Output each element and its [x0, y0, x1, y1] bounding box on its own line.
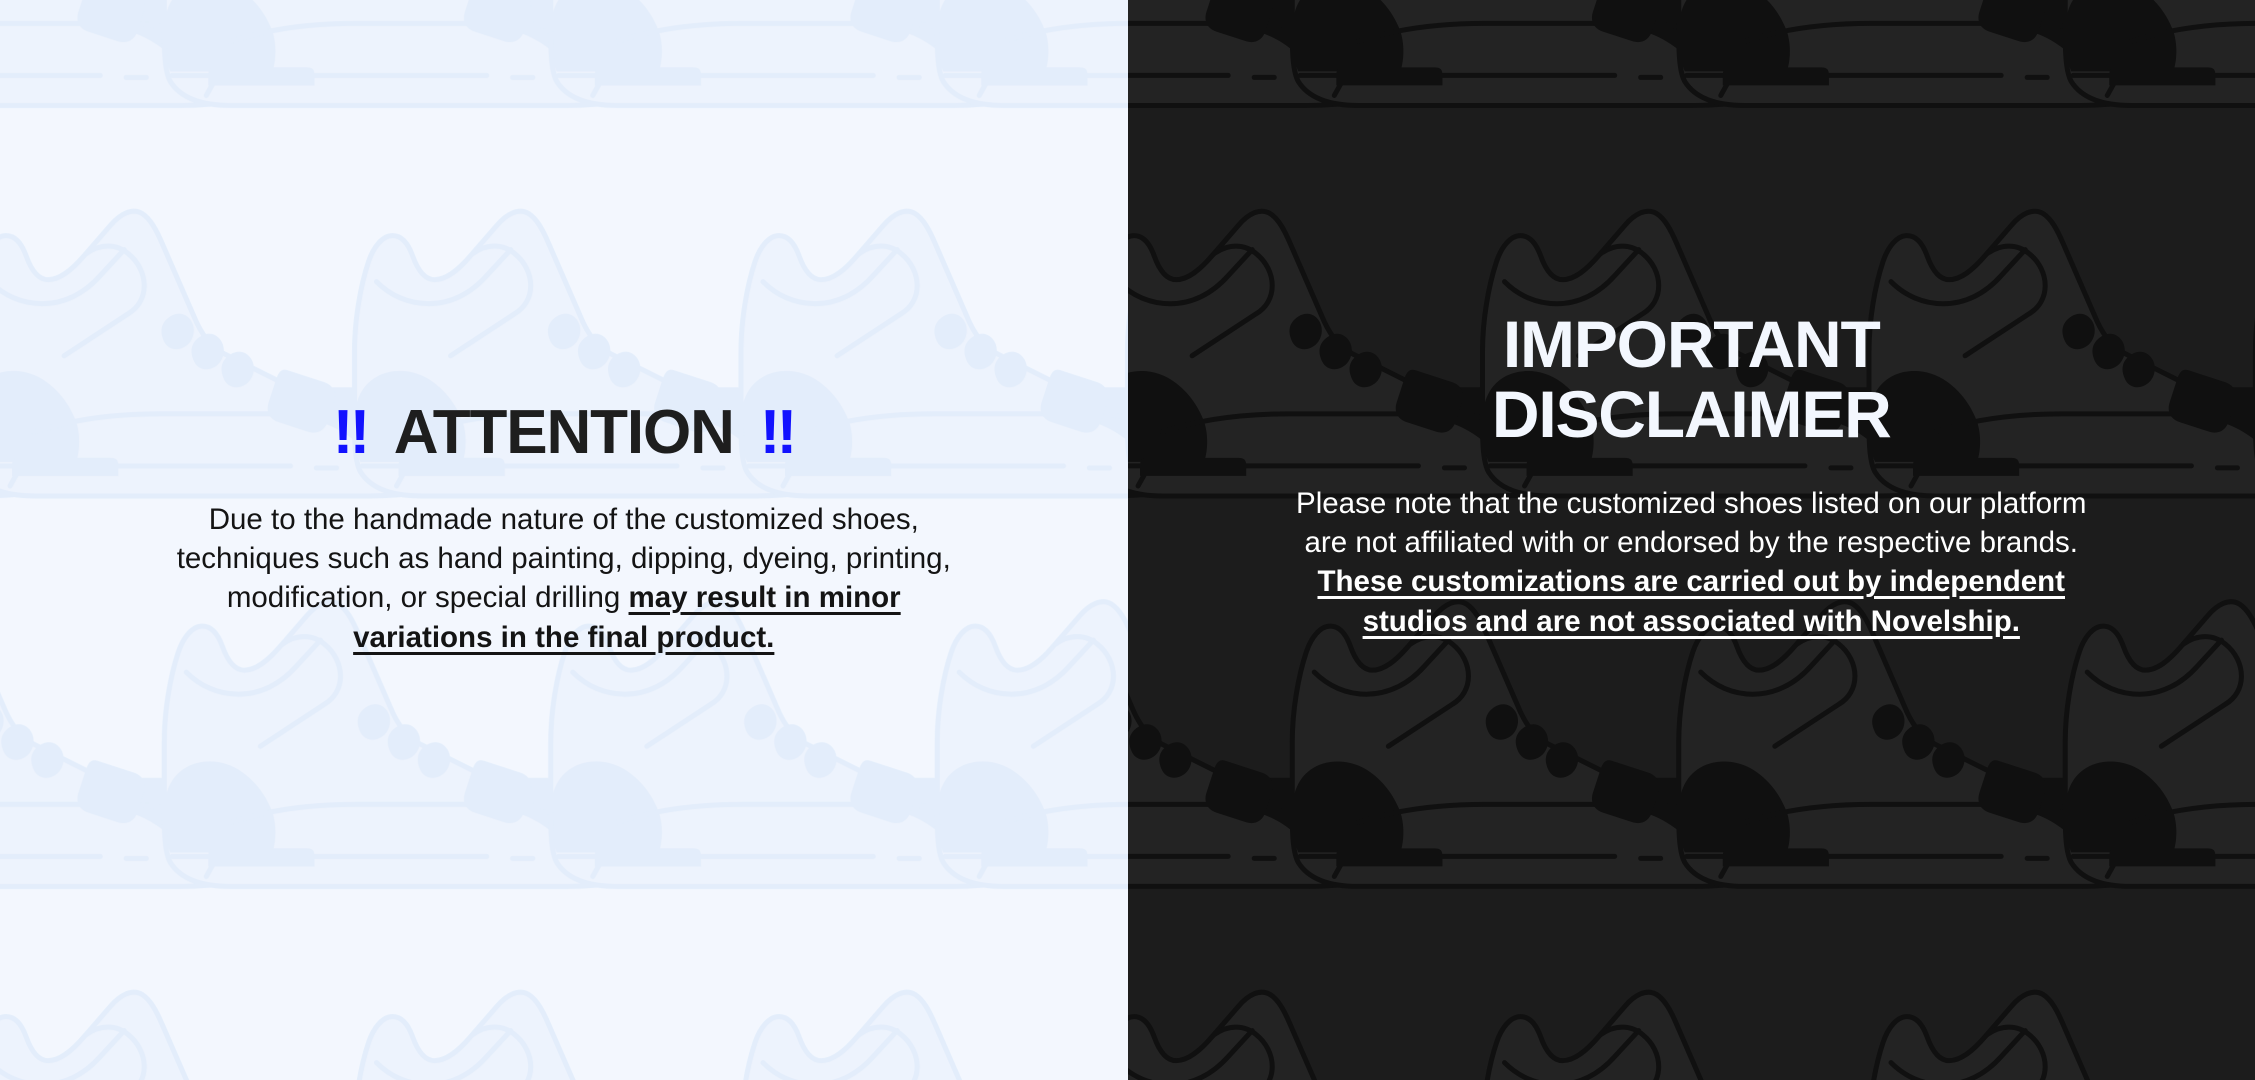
disclaimer-body: Please note that the customized shoes li…: [1286, 484, 2096, 641]
attention-content: ‼ATTENTION‼ Due to the handmade nature o…: [0, 0, 1128, 657]
disclaimer-panel: IMPORTANT DISCLAIMER Please note that th…: [1128, 0, 2255, 1080]
attention-heading-text: ATTENTION: [394, 398, 734, 467]
disclaimer-heading: IMPORTANT DISCLAIMER: [1258, 310, 2126, 450]
attention-heading: ‼ATTENTION‼: [120, 340, 1008, 464]
attention-body: Due to the handmade nature of the custom…: [164, 500, 964, 657]
disclaimer-body-emphasis: These customizations are carried out by …: [1318, 565, 2066, 637]
double-exclamation-left-icon: ‼: [333, 402, 368, 464]
disclaimer-body-normal: Please note that the customized shoes li…: [1296, 487, 2086, 559]
double-exclamation-right-icon: ‼: [760, 402, 795, 464]
attention-panel: ‼ATTENTION‼ Due to the handmade nature o…: [0, 0, 1128, 1080]
disclaimer-content: IMPORTANT DISCLAIMER Please note that th…: [1128, 0, 2255, 641]
